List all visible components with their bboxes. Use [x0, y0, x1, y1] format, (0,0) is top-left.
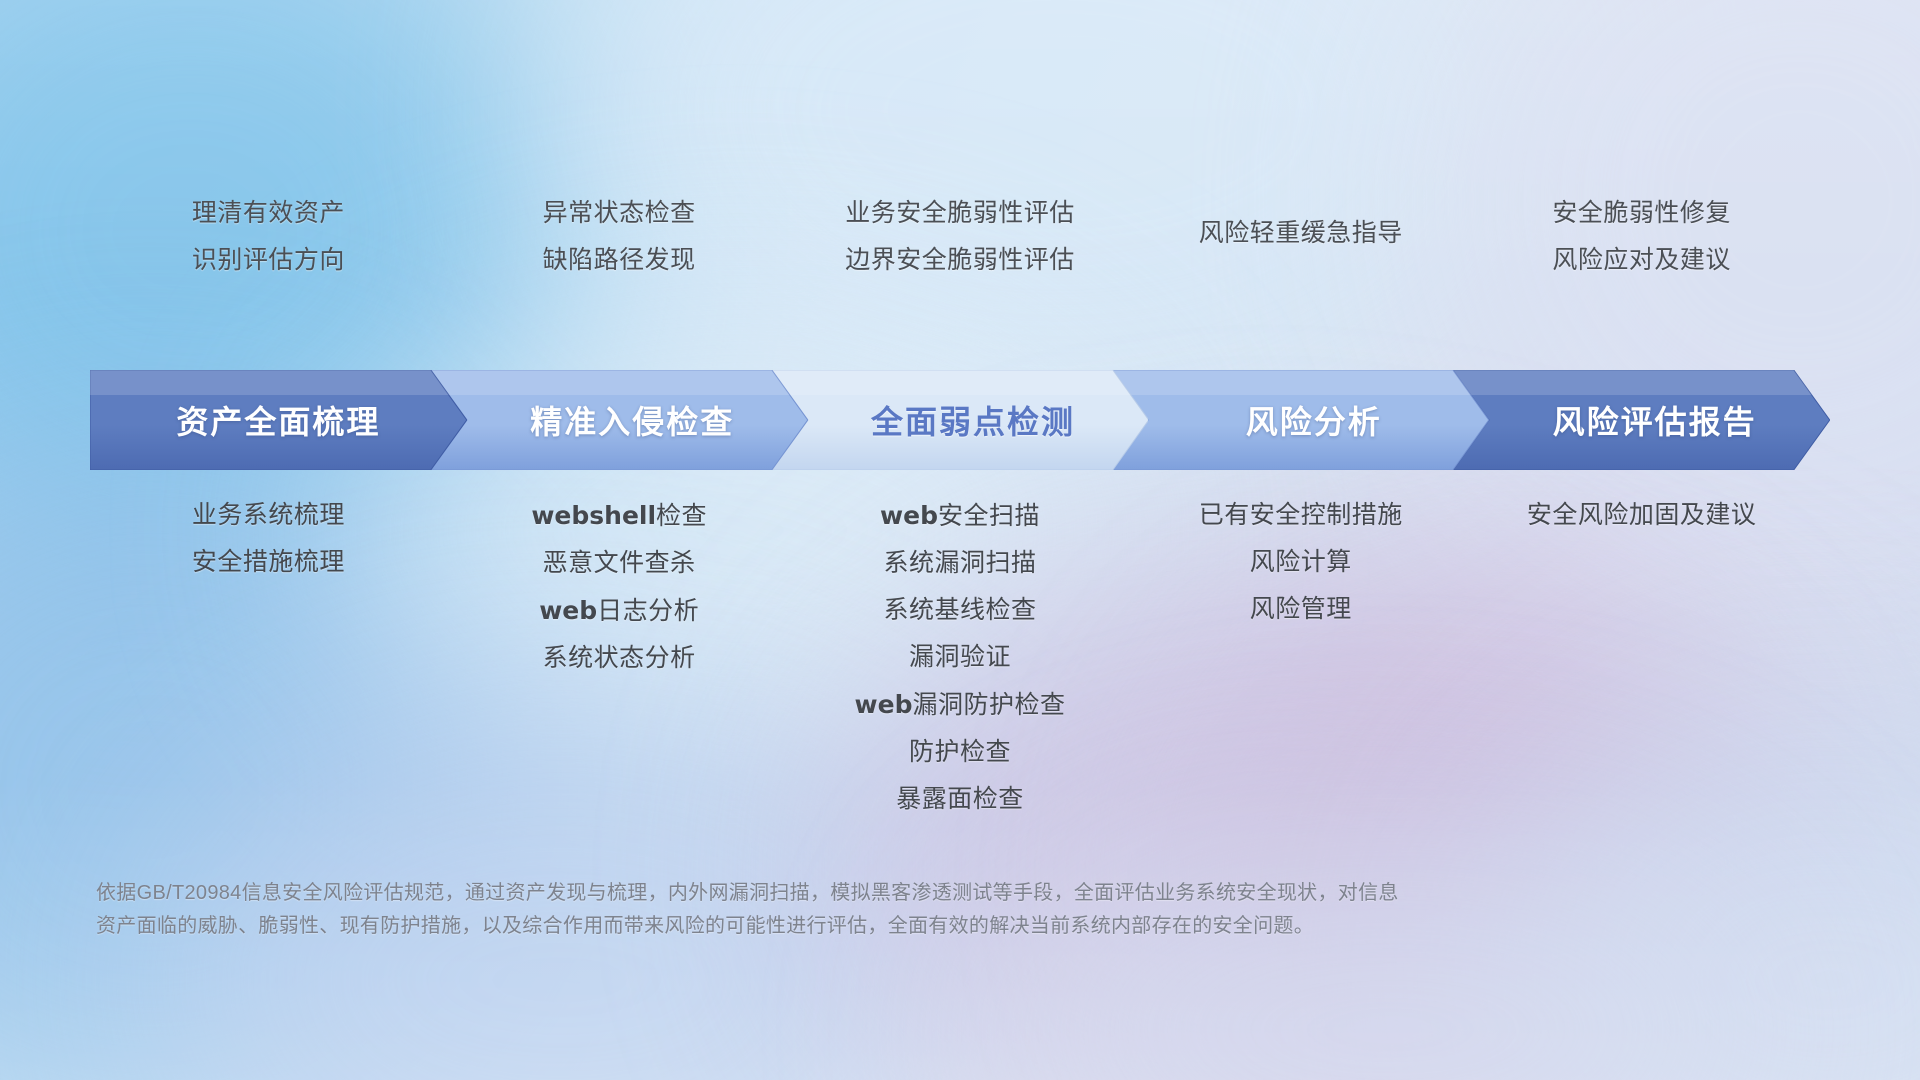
stage-title-risk-report: 风险评估报告 [1453, 370, 1830, 470]
stage-chevron-risk-analysis[interactable]: 风险分析 [1112, 370, 1489, 470]
process-chevron-band: 资产全面梳理精准入侵检查全面弱点检测风险分析风险评估报告 [90, 370, 1830, 470]
stage-chevron-risk-report[interactable]: 风险评估报告 [1453, 370, 1830, 470]
stage-title-weakness-detection: 全面弱点检测 [772, 370, 1149, 470]
note-item: 识别评估方向 [192, 237, 345, 284]
note-item: web漏洞防护检查 [855, 681, 1066, 729]
note-item: 业务安全脆弱性评估 [845, 190, 1075, 237]
note-item: 风险管理 [1250, 586, 1352, 633]
note-item: 异常状态检查 [543, 190, 696, 237]
stage-chevron-intrusion-check[interactable]: 精准入侵检查 [431, 370, 808, 470]
note-item: 安全脆弱性修复 [1552, 190, 1731, 237]
stage-title-risk-analysis: 风险分析 [1112, 370, 1489, 470]
note-item: 系统漏洞扫描 [883, 540, 1036, 587]
note-item: 安全风险加固及建议 [1527, 492, 1757, 539]
note-item: 安全措施梳理 [192, 539, 345, 586]
note-item: 理清有效资产 [192, 190, 345, 237]
stage-title-intrusion-check: 精准入侵检查 [431, 370, 808, 470]
note-item: 系统基线检查 [883, 587, 1036, 634]
slide-content: 理清有效资产识别评估方向异常状态检查缺陷路径发现业务安全脆弱性评估边界安全脆弱性… [0, 0, 1920, 1080]
note-item: web安全扫描 [880, 492, 1040, 540]
note-item: 防护检查 [909, 729, 1011, 776]
note-item: 漏洞验证 [909, 634, 1011, 681]
note-item: 风险应对及建议 [1552, 237, 1731, 284]
note-item: 边界安全脆弱性评估 [845, 237, 1075, 284]
note-item: 风险计算 [1250, 539, 1352, 586]
note-item: 已有安全控制措施 [1199, 492, 1403, 539]
slide-canvas: 理清有效资产识别评估方向异常状态检查缺陷路径发现业务安全脆弱性评估边界安全脆弱性… [0, 0, 1920, 1080]
note-item: webshell检查 [531, 492, 707, 540]
upstream-notes-risk-report: 安全脆弱性修复风险应对及建议 [1392, 190, 1892, 284]
stage-chevron-weakness-detection[interactable]: 全面弱点检测 [772, 370, 1149, 470]
note-item: 恶意文件查杀 [543, 540, 696, 587]
note-item: web日志分析 [539, 587, 699, 635]
stage-title-asset-inventory: 资产全面梳理 [90, 370, 467, 470]
footer-description: 依据GB/T20984信息安全风险评估规范，通过资产发现与梳理，内外网漏洞扫描，… [96, 877, 1626, 943]
note-item: 业务系统梳理 [192, 492, 345, 539]
note-item: 风险轻重缓急指导 [1199, 210, 1403, 257]
note-item: 系统状态分析 [543, 635, 696, 682]
note-item: 缺陷路径发现 [543, 237, 696, 284]
footer-line-1: 依据GB/T20984信息安全风险评估规范，通过资产发现与梳理，内外网漏洞扫描，… [96, 877, 1626, 910]
downstream-notes-risk-report: 安全风险加固及建议 [1392, 492, 1892, 539]
upstream-notes-row: 理清有效资产识别评估方向异常状态检查缺陷路径发现业务安全脆弱性评估边界安全脆弱性… [0, 0, 1920, 330]
footer-line-2: 资产面临的威胁、脆弱性、现有防护措施，以及综合作用而带来风险的可能性进行评估，全… [96, 910, 1626, 943]
note-item: 暴露面检查 [896, 776, 1024, 823]
stage-chevron-asset-inventory[interactable]: 资产全面梳理 [90, 370, 467, 470]
